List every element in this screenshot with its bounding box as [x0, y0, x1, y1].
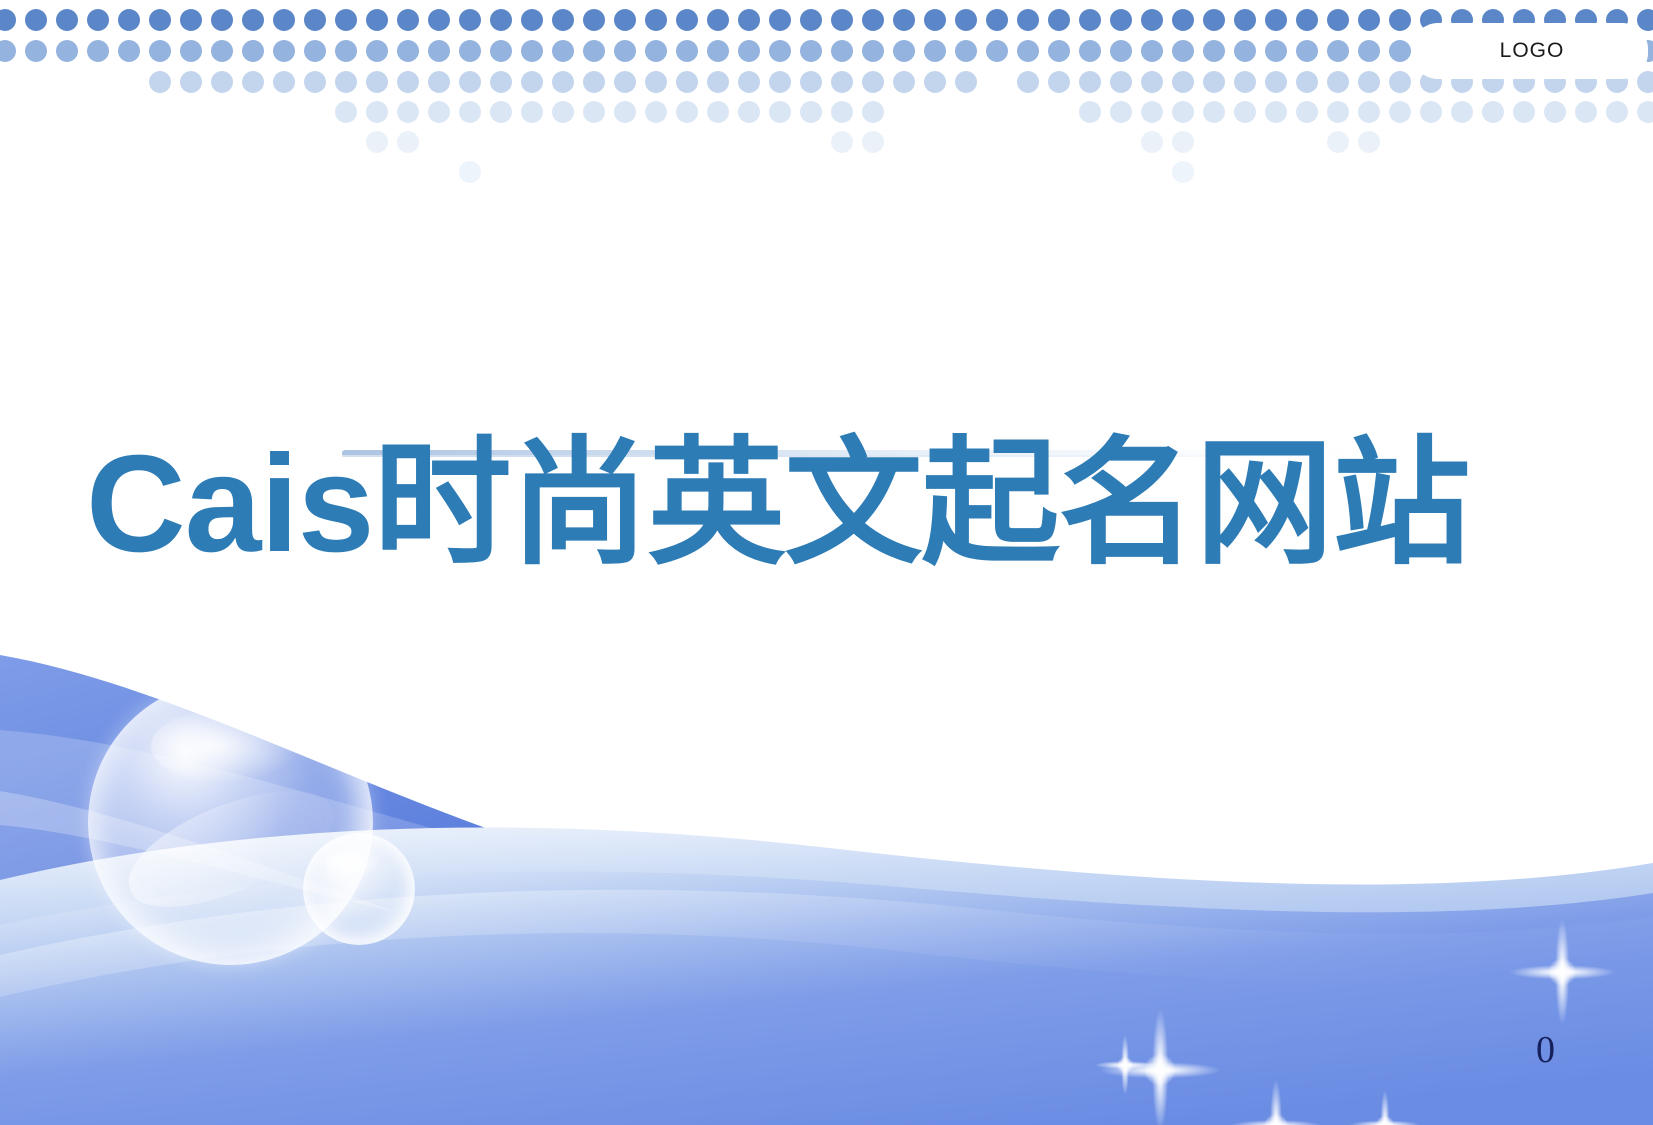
- pattern-dot: [614, 71, 636, 93]
- pattern-dot: [521, 71, 543, 93]
- pattern-dot: [1265, 9, 1287, 31]
- pattern-dot: [583, 40, 605, 62]
- pattern-dot: [1234, 9, 1256, 31]
- pattern-dot: [490, 101, 512, 123]
- pattern-dot: [335, 40, 357, 62]
- pattern-dot: [645, 71, 667, 93]
- pattern-dot: [273, 9, 295, 31]
- pattern-dot: [490, 40, 512, 62]
- pattern-dot: [1017, 40, 1039, 62]
- pattern-dot: [149, 9, 171, 31]
- pattern-dot: [1234, 40, 1256, 62]
- pattern-dot: [862, 9, 884, 31]
- pattern-dot: [1172, 9, 1194, 31]
- pattern-dot: [1234, 71, 1256, 93]
- pattern-dot: [831, 101, 853, 123]
- pattern-dot: [707, 9, 729, 31]
- pattern-dot: [428, 71, 450, 93]
- pattern-dot: [1544, 101, 1566, 123]
- pattern-dot: [924, 71, 946, 93]
- pattern-dot: [242, 40, 264, 62]
- pattern-dot: [583, 9, 605, 31]
- pattern-dot: [335, 9, 357, 31]
- pattern-dot: [149, 71, 171, 93]
- pattern-dot: [1389, 40, 1411, 62]
- pattern-dot: [769, 9, 791, 31]
- pattern-dot: [893, 71, 915, 93]
- pattern-dot: [893, 40, 915, 62]
- pattern-dot: [1079, 9, 1101, 31]
- pattern-dot: [1637, 9, 1653, 31]
- pattern-dot: [738, 71, 760, 93]
- pattern-dot: [1358, 71, 1380, 93]
- pattern-dot: [1358, 9, 1380, 31]
- pattern-dot: [552, 101, 574, 123]
- pattern-dot: [986, 40, 1008, 62]
- pattern-dot: [986, 9, 1008, 31]
- pattern-dot: [1389, 71, 1411, 93]
- page-title: Cais时尚英文起名网站: [86, 435, 1566, 573]
- pattern-dot: [831, 9, 853, 31]
- pattern-dot: [1296, 71, 1318, 93]
- pattern-dot: [1172, 40, 1194, 62]
- pattern-dot: [1358, 101, 1380, 123]
- pattern-dot: [1110, 101, 1132, 123]
- pattern-dot: [676, 101, 698, 123]
- pattern-dot: [955, 9, 977, 31]
- pattern-dot: [273, 71, 295, 93]
- pattern-dot: [552, 9, 574, 31]
- pattern-dot: [366, 71, 388, 93]
- pattern-dot: [211, 40, 233, 62]
- pattern-dot: [1141, 40, 1163, 62]
- pattern-dot: [459, 71, 481, 93]
- pattern-dot: [676, 40, 698, 62]
- pattern-dot: [490, 71, 512, 93]
- pattern-dot: [149, 40, 171, 62]
- pattern-dot: [242, 9, 264, 31]
- pattern-dot: [1203, 71, 1225, 93]
- pattern-dot: [800, 71, 822, 93]
- pattern-dot: [1420, 101, 1442, 123]
- pattern-dot: [1141, 131, 1163, 153]
- pattern-dot: [428, 40, 450, 62]
- pattern-dot: [1141, 9, 1163, 31]
- pattern-dot: [769, 40, 791, 62]
- pattern-dot: [862, 131, 884, 153]
- pattern-dot: [180, 71, 202, 93]
- pattern-dot: [552, 40, 574, 62]
- logo-label: LOGO: [1496, 39, 1565, 63]
- pattern-dot: [1203, 9, 1225, 31]
- pattern-dot: [738, 9, 760, 31]
- pattern-dot: [893, 9, 915, 31]
- pattern-dot: [428, 101, 450, 123]
- pattern-dot: [1296, 9, 1318, 31]
- pattern-dot: [1079, 40, 1101, 62]
- pattern-dot: [614, 40, 636, 62]
- pattern-dot: [1327, 131, 1349, 153]
- pattern-dot: [25, 40, 47, 62]
- pattern-dot: [1606, 101, 1628, 123]
- pattern-dot: [211, 9, 233, 31]
- pattern-dot: [459, 161, 481, 183]
- pattern-dot: [1017, 9, 1039, 31]
- pattern-dot: [397, 40, 419, 62]
- pattern-dot: [800, 101, 822, 123]
- pattern-dot: [0, 40, 16, 62]
- pattern-dot: [862, 101, 884, 123]
- pattern-dot: [397, 71, 419, 93]
- pattern-dot: [366, 131, 388, 153]
- logo-placeholder[interactable]: LOGO: [1412, 23, 1648, 79]
- pattern-dot: [25, 9, 47, 31]
- page-number: 0: [1536, 1028, 1555, 1072]
- pattern-dot: [1110, 71, 1132, 93]
- pattern-dot: [862, 40, 884, 62]
- pattern-dot: [366, 101, 388, 123]
- pattern-dot: [1358, 131, 1380, 153]
- pattern-dot: [1203, 101, 1225, 123]
- pattern-dot: [397, 131, 419, 153]
- pattern-dot: [738, 101, 760, 123]
- pattern-dot: [304, 71, 326, 93]
- pattern-dot: [242, 71, 264, 93]
- pattern-dot: [1637, 101, 1653, 123]
- pattern-dot: [1327, 101, 1349, 123]
- pattern-dot: [955, 71, 977, 93]
- pattern-dot: [459, 9, 481, 31]
- pattern-dot: [459, 101, 481, 123]
- pattern-dot: [87, 9, 109, 31]
- pattern-dot: [1017, 71, 1039, 93]
- pattern-dot: [118, 9, 140, 31]
- pattern-dot: [1048, 9, 1070, 31]
- pattern-dot: [56, 40, 78, 62]
- pattern-dot: [707, 71, 729, 93]
- pattern-dot: [676, 71, 698, 93]
- pattern-dot: [1327, 71, 1349, 93]
- pattern-dot: [1048, 71, 1070, 93]
- pattern-dot: [521, 101, 543, 123]
- pattern-dot: [1110, 9, 1132, 31]
- pattern-dot: [614, 101, 636, 123]
- pattern-dot: [428, 9, 450, 31]
- pattern-dot: [118, 40, 140, 62]
- pattern-dot: [1265, 71, 1287, 93]
- pattern-dot: [1079, 71, 1101, 93]
- pattern-dot: [1203, 40, 1225, 62]
- pattern-dot: [1141, 101, 1163, 123]
- pattern-dot: [1327, 9, 1349, 31]
- pattern-dot: [924, 40, 946, 62]
- pattern-dot: [0, 9, 16, 31]
- pattern-dot: [831, 40, 853, 62]
- pattern-dot: [335, 101, 357, 123]
- pattern-dot: [583, 101, 605, 123]
- pattern-dot: [366, 40, 388, 62]
- pattern-dot: [769, 101, 791, 123]
- pattern-dot: [56, 9, 78, 31]
- pattern-dot: [769, 71, 791, 93]
- pattern-dot: [707, 40, 729, 62]
- pattern-dot: [1637, 71, 1653, 93]
- pattern-dot: [862, 71, 884, 93]
- pattern-dot: [583, 71, 605, 93]
- pattern-dot: [1296, 101, 1318, 123]
- pattern-dot: [1048, 40, 1070, 62]
- pattern-dot: [955, 40, 977, 62]
- pattern-dot: [614, 9, 636, 31]
- pattern-dot: [676, 9, 698, 31]
- pattern-dot: [180, 40, 202, 62]
- pattern-dot: [1327, 40, 1349, 62]
- pattern-dot: [924, 9, 946, 31]
- pattern-dot: [1265, 101, 1287, 123]
- pattern-dot: [211, 71, 233, 93]
- pattern-dot: [1575, 101, 1597, 123]
- pattern-dot: [831, 71, 853, 93]
- pattern-dot: [800, 9, 822, 31]
- pattern-dot: [1358, 40, 1380, 62]
- bubble-small-decoration: [303, 833, 415, 945]
- pattern-dot: [87, 40, 109, 62]
- pattern-dot: [1172, 131, 1194, 153]
- pattern-dot: [366, 9, 388, 31]
- pattern-dot: [1451, 101, 1473, 123]
- pattern-dot: [304, 9, 326, 31]
- pattern-dot: [1110, 40, 1132, 62]
- pattern-dot: [645, 40, 667, 62]
- pattern-dot: [459, 40, 481, 62]
- pattern-dot: [1389, 9, 1411, 31]
- pattern-dot: [1513, 101, 1535, 123]
- title-slide: LOGO Cais时尚英文起名网站: [0, 0, 1653, 1125]
- pattern-dot: [397, 101, 419, 123]
- pattern-dot: [273, 40, 295, 62]
- pattern-dot: [180, 9, 202, 31]
- pattern-dot: [397, 9, 419, 31]
- pattern-dot: [1172, 71, 1194, 93]
- pattern-dot: [1265, 40, 1287, 62]
- pattern-dot: [645, 9, 667, 31]
- pattern-dot: [707, 101, 729, 123]
- pattern-dot: [1172, 101, 1194, 123]
- pattern-dot: [1234, 101, 1256, 123]
- pattern-dot: [1296, 40, 1318, 62]
- pattern-dot: [521, 40, 543, 62]
- pattern-dot: [800, 40, 822, 62]
- pattern-dot: [552, 71, 574, 93]
- pattern-dot: [1389, 101, 1411, 123]
- pattern-dot: [1482, 101, 1504, 123]
- pattern-dot: [645, 101, 667, 123]
- pattern-dot: [521, 9, 543, 31]
- dot-pattern-decoration: [0, 0, 1653, 210]
- pattern-dot: [1079, 101, 1101, 123]
- pattern-dot: [304, 40, 326, 62]
- pattern-dot: [335, 71, 357, 93]
- pattern-dot: [738, 40, 760, 62]
- pattern-dot: [490, 9, 512, 31]
- pattern-dot: [831, 131, 853, 153]
- pattern-dot: [1172, 161, 1194, 183]
- pattern-dot: [1141, 71, 1163, 93]
